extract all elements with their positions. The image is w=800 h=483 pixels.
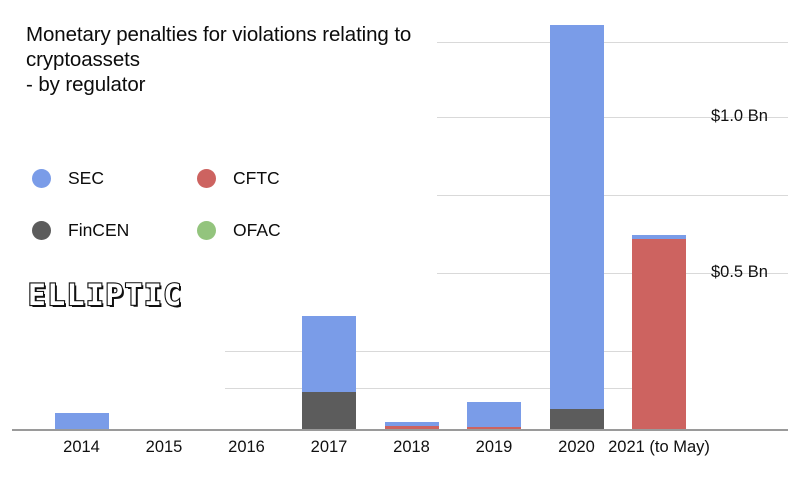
bar-segment-fincen[interactable] (302, 392, 356, 429)
bar-segment-sec[interactable] (550, 25, 604, 409)
bar-segment-cftc[interactable] (467, 427, 521, 429)
bar-column-2019[interactable] (467, 402, 521, 430)
gridline-2 (437, 195, 788, 196)
bar-column-2018[interactable] (385, 422, 439, 429)
bar-segment-sec[interactable] (302, 316, 356, 391)
bar-segment-sec[interactable] (467, 402, 521, 428)
bar-column-2017[interactable] (302, 316, 356, 429)
y-tick-label-1-0-bn: $1.0 Bn (711, 107, 768, 126)
x-tick-label-2021-to-may-: 2021 (to May) (579, 438, 739, 457)
y-tick-label-0-5-bn: $0.5 Bn (711, 263, 768, 282)
bar-column-2020[interactable] (550, 25, 604, 429)
bar-segment-sec[interactable] (55, 413, 109, 429)
bar-segment-sec[interactable] (385, 422, 439, 426)
bar-segment-cftc[interactable] (632, 239, 686, 429)
gridline-0 (437, 42, 788, 43)
chart-container: Monetary penalties for violations relati… (0, 0, 800, 483)
bar-column-2014[interactable] (55, 413, 109, 429)
x-axis-line (12, 429, 788, 431)
bar-segment-sec[interactable] (632, 235, 686, 238)
plot-area: $1.0 Bn$0.5 Bn20142015201620172018201920… (0, 0, 800, 483)
bar-column-2021-to-may-[interactable] (632, 235, 686, 429)
bar-segment-cftc[interactable] (385, 426, 439, 429)
bar-segment-fincen[interactable] (550, 409, 604, 429)
